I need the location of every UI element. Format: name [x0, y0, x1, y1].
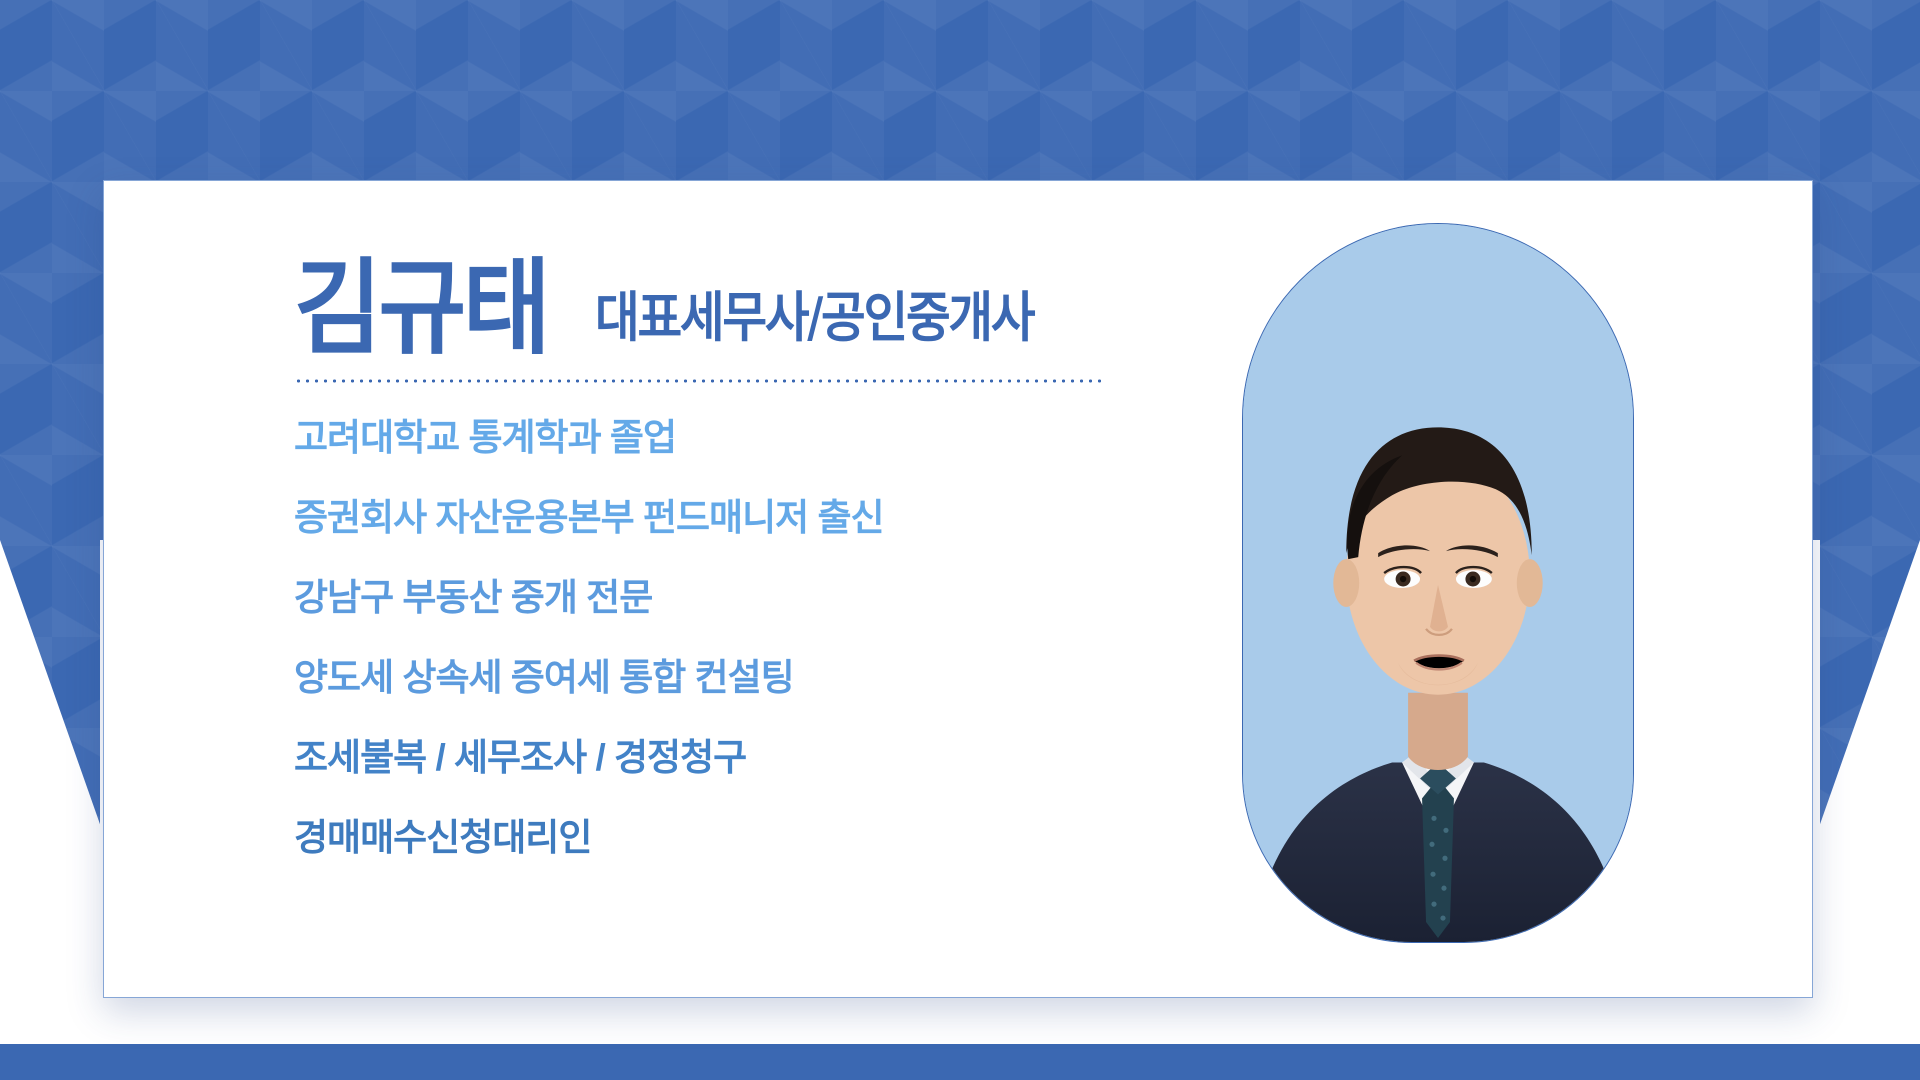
- profile-role-title: 대표세무사/공인중개사: [595, 291, 1033, 357]
- profile-card: 김규태 대표세무사/공인중개사 고려대학교 통계학과 졸업 증권회사 자산운용본…: [103, 180, 1813, 998]
- list-item: 고려대학교 통계학과 졸업: [294, 419, 1294, 456]
- profile-portrait-photo: [1242, 223, 1634, 943]
- list-item: 경매매수신청대리인: [294, 819, 1294, 856]
- list-item: 조세불복 / 세무조사 / 경정청구: [294, 739, 1294, 776]
- bottom-accent-bar: [0, 1044, 1920, 1080]
- profile-headline: 김규태 대표세무사/공인중개사: [294, 241, 1294, 357]
- credentials-list: 고려대학교 통계학과 졸업 증권회사 자산운용본부 펀드매니저 출신 강남구 부…: [294, 419, 1294, 856]
- list-item: 양도세 상속세 증여세 통합 컨설팅: [294, 659, 1294, 696]
- list-item: 강남구 부동산 중개 전문: [294, 579, 1294, 616]
- list-item: 증권회사 자산운용본부 펀드매니저 출신: [294, 499, 1294, 536]
- dotted-divider: [294, 379, 1102, 383]
- portrait-illustration: [1243, 224, 1633, 942]
- profile-text-column: 김규태 대표세무사/공인중개사 고려대학교 통계학과 졸업 증권회사 자산운용본…: [294, 241, 1294, 856]
- slide-canvas: 김규태 대표세무사/공인중개사 고려대학교 통계학과 졸업 증권회사 자산운용본…: [0, 0, 1920, 1080]
- profile-name: 김규태: [294, 261, 547, 357]
